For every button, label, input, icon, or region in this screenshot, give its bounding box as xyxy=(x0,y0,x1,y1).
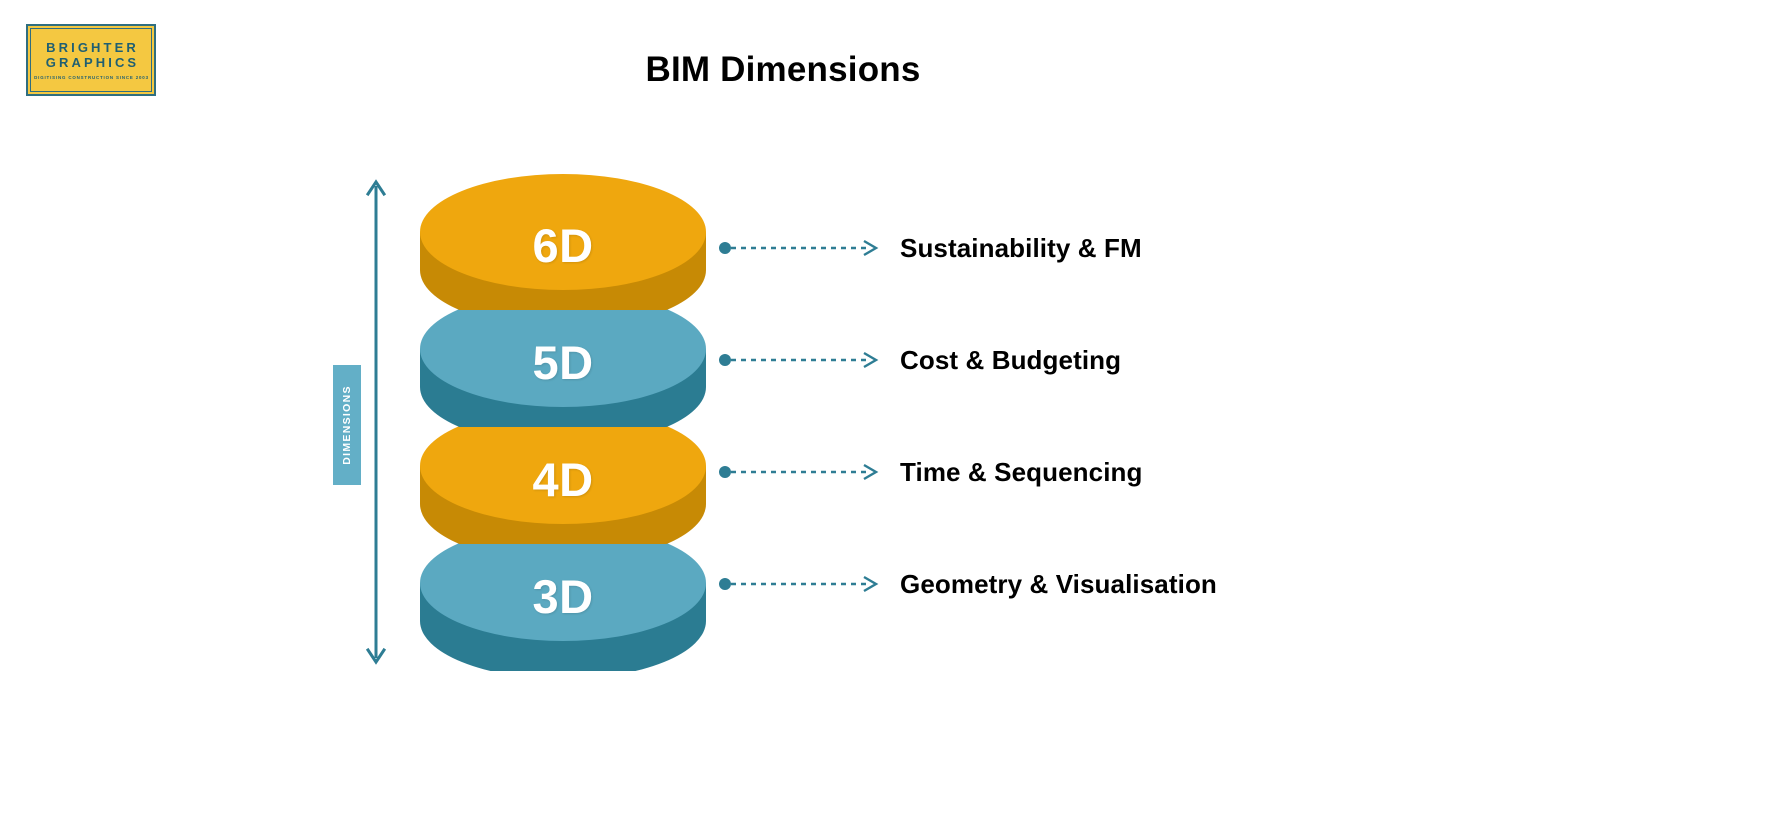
slide-canvas: BRIGHTER GRAPHICS DIGITISING CONSTRUCTIO… xyxy=(0,0,1790,828)
connector-3d xyxy=(718,574,888,594)
dimension-cylinder-6d[interactable]: 6D xyxy=(418,170,708,310)
bim-dimension-stack: 6D 5D 4D 3D xyxy=(418,170,710,680)
connector-6d xyxy=(718,238,888,258)
connector-5d xyxy=(718,350,888,370)
dimensions-axis-arrow xyxy=(360,176,392,668)
page-title: BIM Dimensions xyxy=(0,50,1566,90)
connector-4d xyxy=(718,462,888,482)
dimensions-axis-label-text: DIMENSIONS xyxy=(341,385,353,465)
dimension-description-6d: Sustainability & FM xyxy=(900,233,1142,264)
dimension-description-4d: Time & Sequencing xyxy=(900,457,1143,488)
dimension-description-3d: Geometry & Visualisation xyxy=(900,569,1217,600)
dimension-description-5d: Cost & Budgeting xyxy=(900,345,1121,376)
dimensions-axis-label: DIMENSIONS xyxy=(333,365,361,485)
